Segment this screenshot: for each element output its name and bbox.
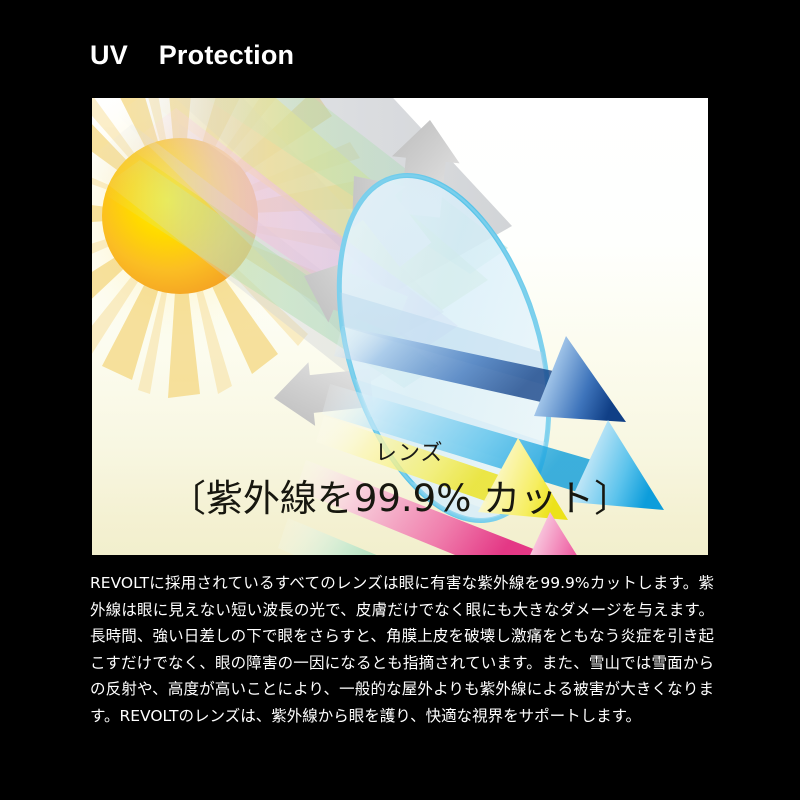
uv-cut-caption: 〔紫外線を99.9% カット〕 xyxy=(92,468,708,522)
body-copy: REVOLTに採用されているすべてのレンズは眼に有害な紫外線を99.9%カットし… xyxy=(90,570,714,729)
uv-protection-illustration: レンズ 〔紫外線を99.9% カット〕 xyxy=(92,98,708,555)
lens-label: レンズ xyxy=(375,435,444,467)
uv-protection-page: UV Protection xyxy=(0,0,800,800)
page-title: UV Protection xyxy=(90,41,294,71)
body-paragraph: REVOLTに採用されているすべてのレンズは眼に有害な紫外線を99.9%カットし… xyxy=(90,570,714,729)
